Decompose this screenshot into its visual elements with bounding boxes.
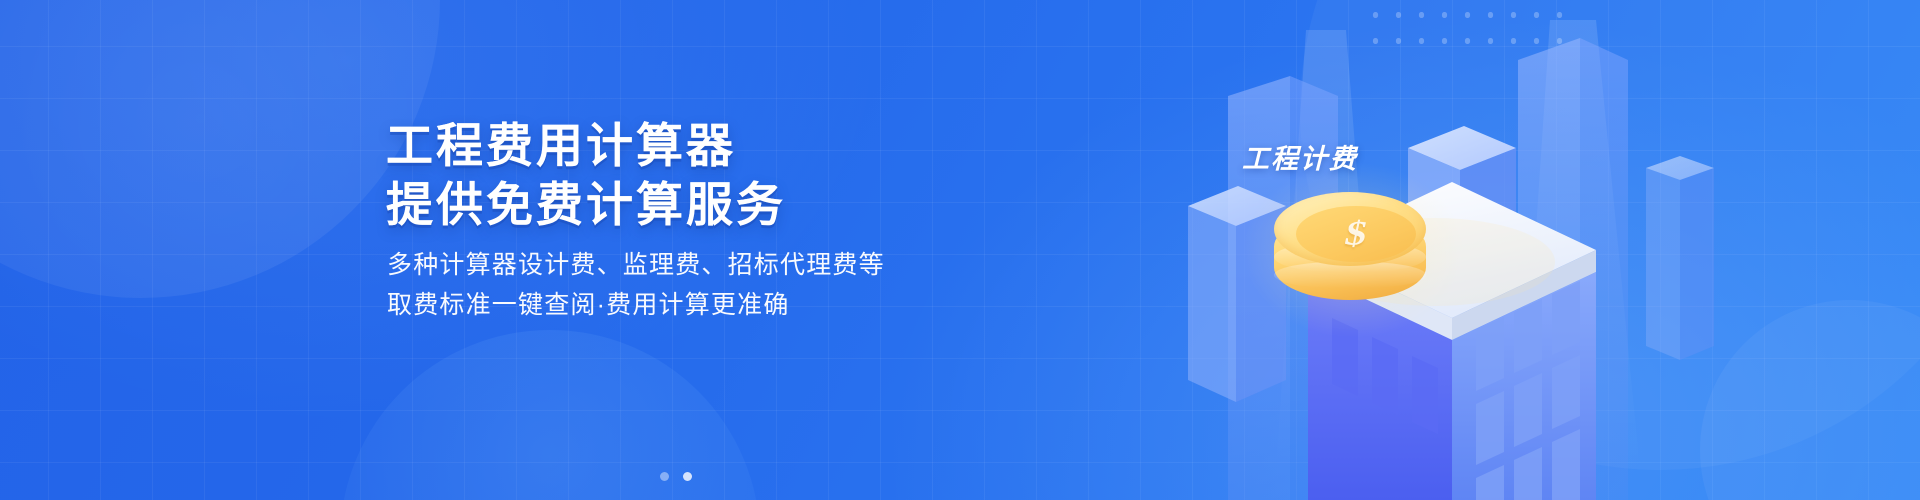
coin-face: $ xyxy=(1274,192,1426,266)
carousel-dot-2[interactable] xyxy=(683,472,692,481)
carousel-dot-1[interactable] xyxy=(660,472,669,481)
carousel-indicators[interactable] xyxy=(660,472,692,481)
banner-title-line-2: 提供免费计算服务 xyxy=(386,181,786,228)
banner-title-line-1: 工程费用计算器 xyxy=(386,122,736,169)
hero-banner: $ 工程计费 工程费用计算器 提供免费计算服务 多种计算器设计费、监理费、招标代… xyxy=(0,0,1920,500)
dollar-sign-icon: $ xyxy=(1291,211,1421,257)
banner-subtitle-line-1: 多种计算器设计费、监理费、招标代理费等 xyxy=(387,253,885,278)
coin-icon: $ xyxy=(1268,186,1438,318)
illustration-tag-label: 工程计费 xyxy=(1242,137,1358,176)
illustration: $ xyxy=(1080,0,1720,500)
coin-face-inner: $ xyxy=(1296,206,1416,262)
banner-subtitle-line-2: 取费标准一键查阅·费用计算更准确 xyxy=(387,293,790,318)
